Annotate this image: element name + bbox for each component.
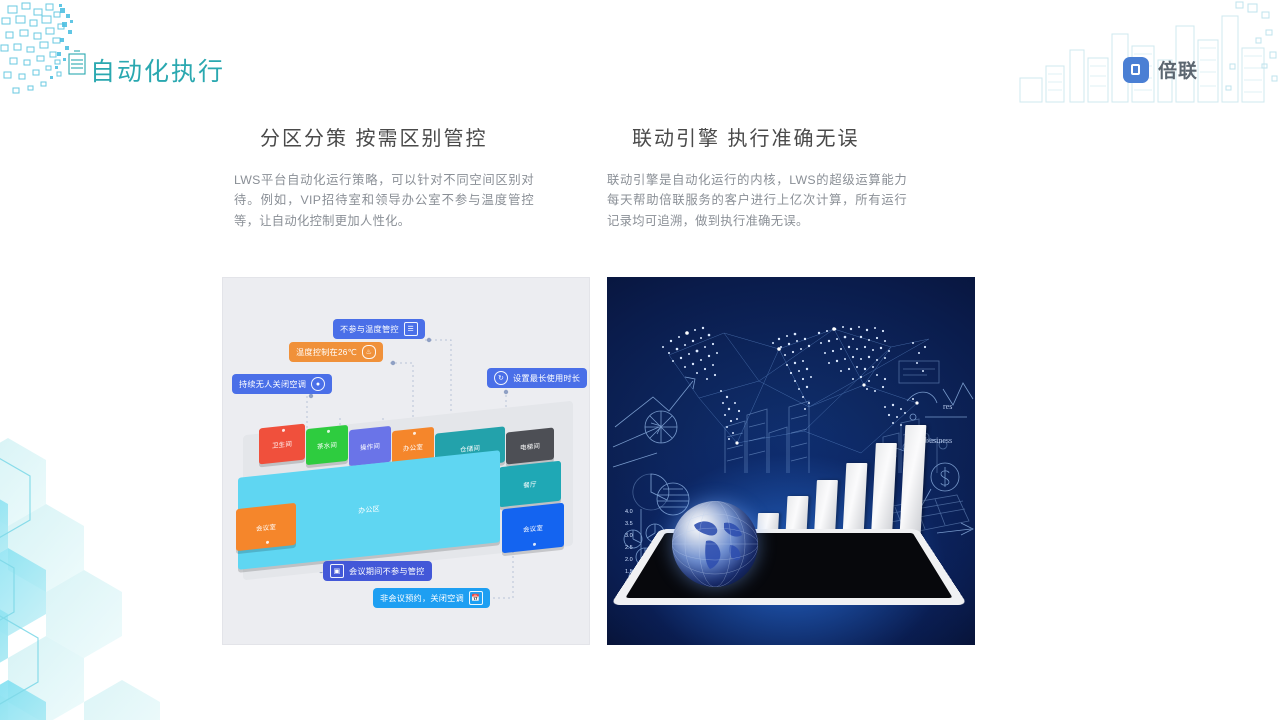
room-meeting-right: 会议室 xyxy=(502,503,564,554)
tag-close-ac-when-unoccupied[interactable]: 持续无人关闭空调 ● xyxy=(232,374,332,394)
svg-text:3.5: 3.5 xyxy=(625,521,633,527)
motion-sensor-icon: ● xyxy=(311,377,325,391)
brand-logo: 倍联 xyxy=(1123,56,1198,83)
floorplan-scene: 卫生间 茶水间 操作间 办公室 仓储间 电梯间 xyxy=(223,278,589,644)
tag-max-usage-duration[interactable]: ↻ 设置最长使用时长 xyxy=(487,368,587,388)
heading-zone-policy: 分区分策 按需区别管控 xyxy=(260,122,488,151)
room-canteen: 餐厅 xyxy=(499,461,561,508)
document-list-icon: ☰ xyxy=(404,322,418,336)
room-elevator: 电梯间 xyxy=(506,427,554,464)
hexagon-decoration xyxy=(0,400,200,720)
data-globe-illustration-panel: res business 4.03.53.0 2.52.01.5 1.0 xyxy=(607,277,975,645)
tag-no-control-during-meeting[interactable]: ▣ 会议期间不参与管控 xyxy=(323,561,432,581)
tag-temperature-26[interactable]: 温度控制在26℃ ♨ xyxy=(289,342,383,362)
square-logo-icon xyxy=(1123,57,1149,83)
sketch-word-res: res xyxy=(943,402,952,411)
slide-root: 自动化执行 倍联 分区分策 按需区别管控 LWS平台自动化运行策略，可以针对不同… xyxy=(0,0,1280,720)
city-skyline-decoration xyxy=(990,0,1280,110)
pixel-mosaic-decoration xyxy=(0,0,90,105)
brand-name: 倍联 xyxy=(1158,56,1198,83)
page-title: 自动化执行 xyxy=(90,52,225,88)
room-meeting-left: 会议室 xyxy=(236,503,296,551)
room-operations: 操作间 xyxy=(349,426,391,466)
heading-linkage-engine: 联动引擎 执行准确无误 xyxy=(632,122,860,151)
svg-text:2.5: 2.5 xyxy=(625,545,633,551)
tag-exclude-temperature-control[interactable]: 不参与温度管控 ☰ xyxy=(333,319,425,339)
body-linkage-engine: 联动引擎是自动化运行的内核，LWS的超级运算能力每天帮助倍联服务的客户进行上亿次… xyxy=(607,170,907,231)
timer-icon: ↻ xyxy=(494,371,508,385)
calendar-icon: 📅 xyxy=(469,591,483,605)
floorplan-illustration-panel: 卫生间 茶水间 操作间 办公室 仓储间 电梯间 xyxy=(222,277,590,645)
body-zone-policy: LWS平台自动化运行策略，可以针对不同空间区别对待。例如，VIP招待室和领导办公… xyxy=(234,170,534,231)
svg-text:3.0: 3.0 xyxy=(625,533,633,539)
svg-text:2.0: 2.0 xyxy=(625,557,633,563)
room-restroom: 卫生间 xyxy=(259,424,305,465)
meeting-icon: ▣ xyxy=(330,564,344,578)
thermometer-icon: ♨ xyxy=(362,345,376,359)
room-pantry: 茶水间 xyxy=(306,425,348,465)
svg-text:4.0: 4.0 xyxy=(625,509,633,515)
globe xyxy=(672,501,758,587)
tag-close-ac-without-booking[interactable]: 非会议预约，关闭空调 📅 xyxy=(373,588,490,608)
tablet-device xyxy=(610,529,968,605)
